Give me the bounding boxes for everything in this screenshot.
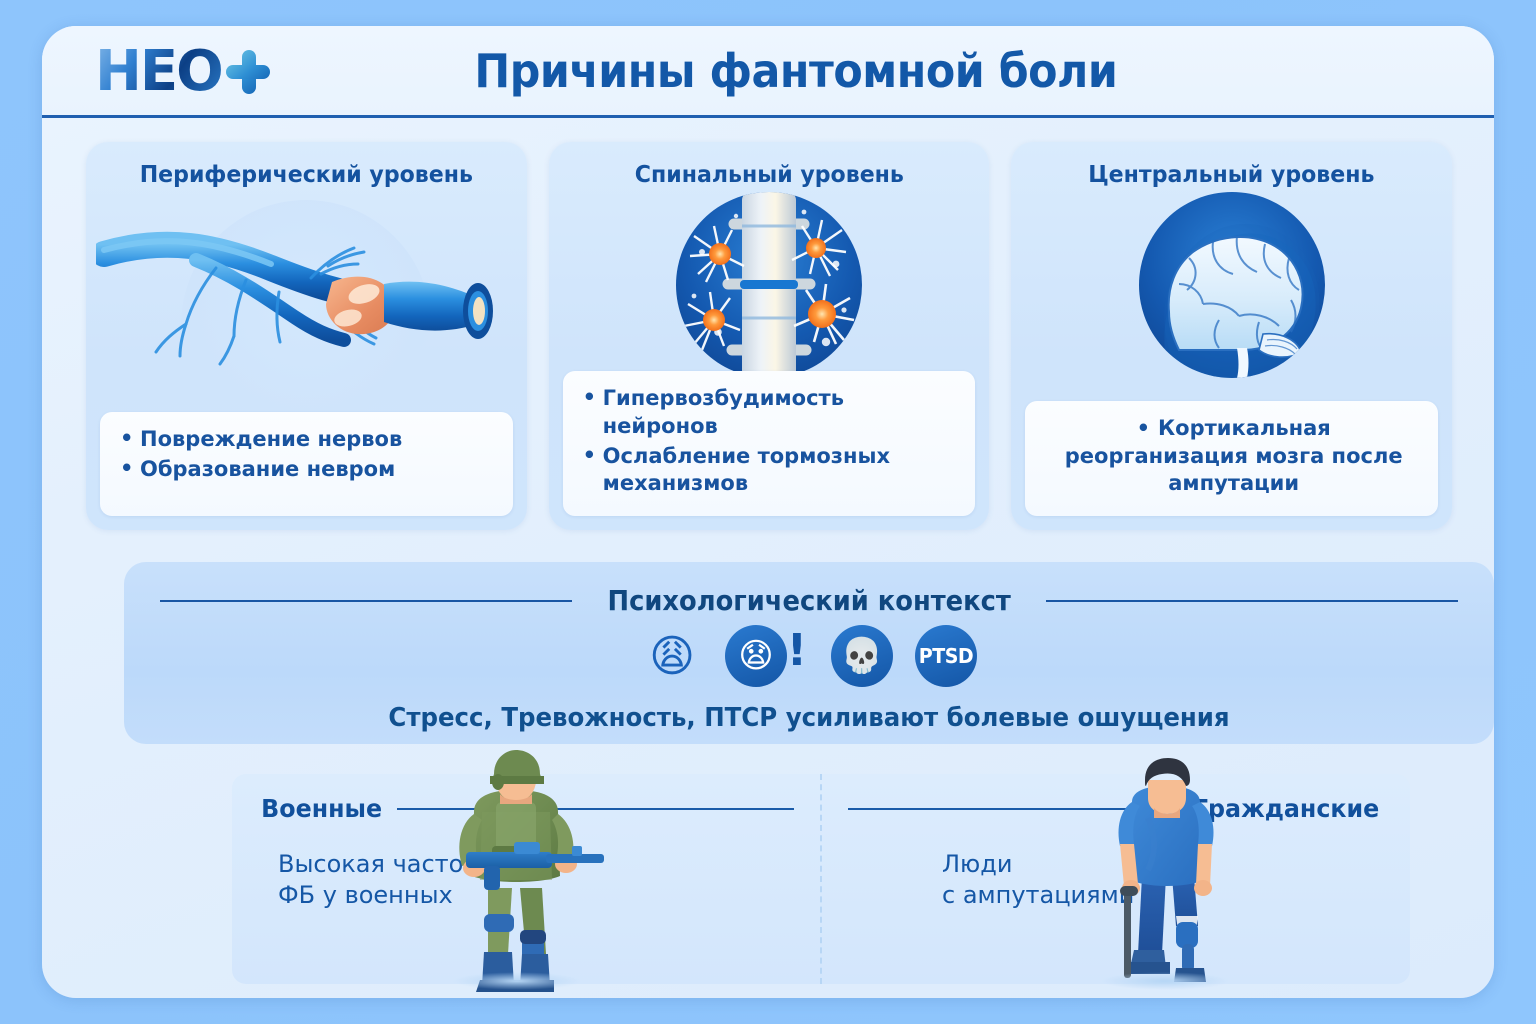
header-bar: HEO Причины фантомной боли: [42, 26, 1494, 118]
icon-glyph: 💀: [831, 625, 893, 687]
card-spinal-level: Спинальный уровень: [549, 142, 990, 530]
card-bullets: Кортикальная реорганизация мозга после а…: [1025, 401, 1438, 516]
icon-glyph: 😧: [725, 625, 787, 687]
bullet-item: Ослабление тормозных механизмов: [583, 443, 960, 498]
card-title: Периферический уровень: [95, 162, 518, 188]
group-civilian: Гражданские Люди с ампутациями: [820, 774, 1410, 984]
brain-illustration: [1011, 192, 1452, 368]
group-title: Военные: [261, 794, 382, 823]
stress-person-icon: 😩: [641, 625, 703, 687]
skull-icon: 💀: [831, 625, 893, 687]
ptsd-badge-icon: PTSD: [915, 625, 977, 687]
psychological-context-band: Психологический контекст 😩 😧 ! 💀 PTSD С: [124, 562, 1494, 744]
soldier-figure-icon: [422, 748, 612, 988]
infographic-panel: HEO Причины фантомной боли Периферически…: [42, 26, 1494, 998]
exclamation-mark: !: [787, 629, 807, 673]
card-title: Спинальный уровень: [557, 162, 980, 188]
card-title: Центральный уровень: [1020, 162, 1443, 188]
group-military: Военные Высокая частота ФБ у военных: [232, 774, 820, 984]
ptsd-label: PTSD: [917, 625, 976, 687]
levels-card-row: Периферический уровень: [86, 142, 1452, 530]
figure-shadow: [452, 972, 582, 990]
card-bullets: Гипервозбудимость нейронов Ослабление то…: [563, 371, 976, 516]
brain-circle: [1139, 192, 1325, 378]
psychological-caption: Стресс, Тревожность, ПТСР усиливают боле…: [165, 703, 1453, 733]
psychological-icon-row: 😩 😧 ! 💀 PTSD: [124, 625, 1494, 687]
psychological-header: Психологический контекст: [124, 562, 1494, 617]
anxiety-person-icon: 😧 !: [725, 625, 809, 687]
page-title: Причины фантомной боли: [93, 44, 1443, 98]
bullet-item: Повреждение нервов: [120, 426, 497, 454]
icon-glyph: 😩: [641, 625, 703, 687]
groups-row: Военные Высокая частота ФБ у военных: [232, 774, 1410, 984]
spinal-illustration: [549, 192, 990, 368]
card-central-level: Центральный уровень: [1011, 142, 1452, 530]
bullet-item: Гипервозбудимость нейронов: [583, 385, 960, 440]
bullet-item: Образование невром: [120, 456, 497, 484]
civilian-figure-icon: [1090, 758, 1240, 988]
divider-right: [1046, 600, 1458, 602]
card-peripheral-level: Периферический уровень: [86, 142, 527, 530]
figure-shadow: [1100, 972, 1230, 990]
divider-left: [160, 600, 572, 602]
spinal-circle: [676, 192, 862, 378]
card-bullets: Повреждение нервов Образование невром: [100, 412, 513, 516]
nerve-illustration: [86, 192, 527, 368]
bullet-item: Кортикальная реорганизация мозга после а…: [1045, 415, 1422, 498]
psychological-title: Психологический контекст: [607, 584, 1010, 617]
